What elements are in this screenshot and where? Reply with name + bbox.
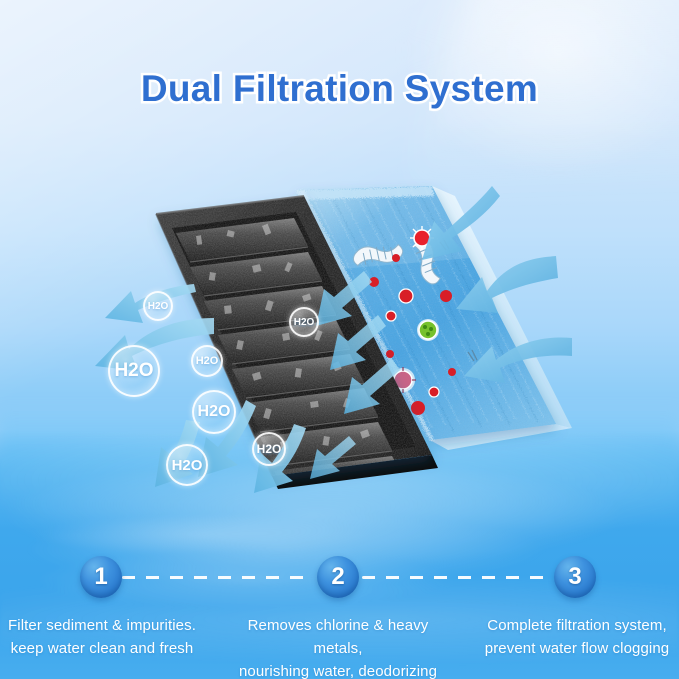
virus-red (410, 226, 434, 250)
arrow-through-2 (330, 315, 386, 370)
step-badge-1: 1 (80, 556, 122, 598)
bacteria-rod (410, 237, 445, 287)
step-caption-2-line2: nourishing water, deodorizing (222, 660, 454, 679)
step-caption-2: Removes chlorine & heavy metals, nourish… (222, 614, 454, 679)
step-caption-3-line1: Complete filtration system, (461, 614, 679, 637)
spore-marks (440, 240, 477, 361)
h2o-bubble: H2O (192, 390, 236, 434)
page-title: Dual Filtration System (0, 68, 679, 110)
step-caption-1-line1: Filter sediment & impurities. (0, 614, 218, 637)
arrow-through-1 (316, 271, 372, 326)
step-caption-2-line1: Removes chlorine & heavy metals, (222, 614, 454, 660)
h2o-bubble: H2O (252, 432, 286, 466)
germ-dots (357, 254, 456, 415)
h2o-bubble: H2O (143, 291, 173, 321)
inflow-arrows (422, 186, 572, 383)
step-caption-1: Filter sediment & impurities. keep water… (0, 614, 218, 660)
h2o-bubble: H2O (108, 345, 160, 397)
step-caption-3-line2: prevent water flow clogging (461, 637, 679, 660)
h2o-bubble: H2O (289, 307, 319, 337)
step-connector-1 (122, 576, 308, 579)
h2o-bubble: H2O (166, 444, 208, 486)
contaminant-particles (351, 226, 477, 415)
step-badge-3: 3 (554, 556, 596, 598)
step-badge-2: 2 (317, 556, 359, 598)
infographic-canvas: Dual Filtration System (0, 0, 679, 679)
step-connector-2 (362, 576, 550, 579)
h2o-bubble: H2O (191, 345, 223, 377)
virus-magenta (390, 367, 416, 393)
arrow-inflow-bottom (464, 338, 572, 383)
bacteria-rod (351, 240, 404, 270)
step-caption-1-line2: keep water clean and fresh (0, 637, 218, 660)
through-arrows (316, 271, 400, 414)
virus-green (417, 319, 439, 341)
arrow-inflow-top (422, 186, 500, 260)
arrow-inflow-mid (456, 256, 558, 313)
steps-section: 1 2 3 Filter sediment & impurities. keep… (0, 556, 679, 676)
step-caption-3: Complete filtration system, prevent wate… (461, 614, 679, 660)
